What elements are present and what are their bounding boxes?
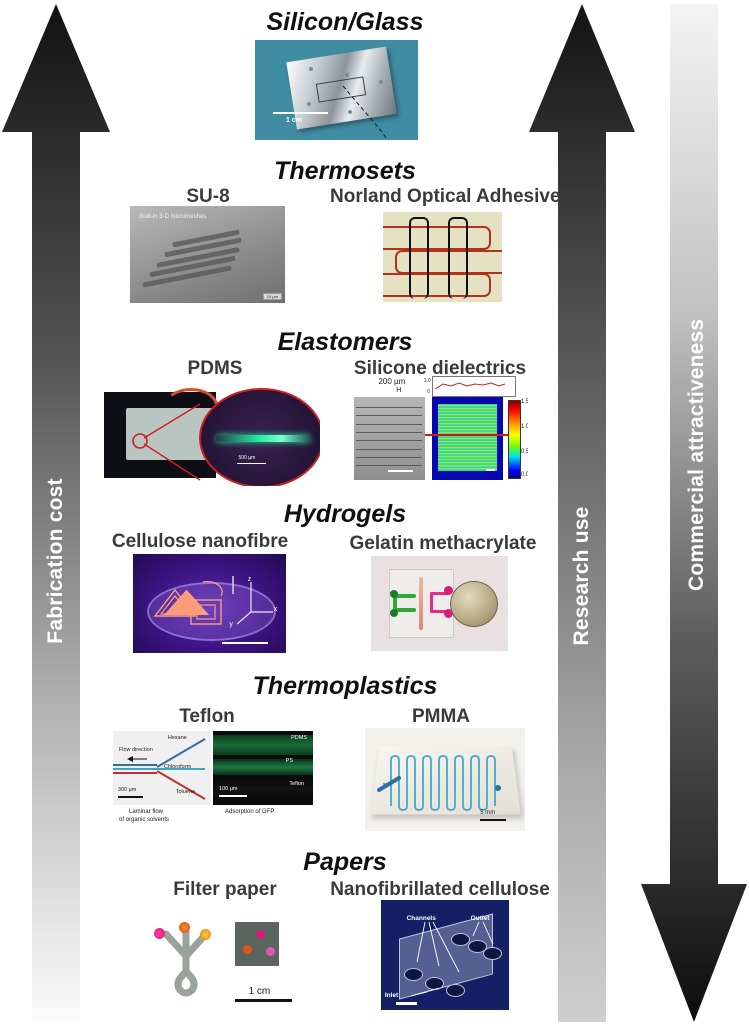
pdms-scale-label: 500 µm [239,455,256,461]
nanofibrillated-cellulose-image: Channels Outlet Inlet [381,900,509,1010]
pdms-image: 500 µm [104,386,320,486]
gelatin-methacrylate-image [371,556,508,651]
silicone-cb-15: 1.5 [521,399,528,405]
heading-hydrogels: Hydrogels [115,500,575,529]
pmma-image: 5 mm [365,728,525,831]
teflon-pdms-label: PDMS [291,735,307,741]
teflon-caption-2: of organic solvents [119,817,169,823]
teflon-caption-3: Adsorption of GFP [225,809,274,815]
teflon-caption-1: Laminar flow [129,809,163,815]
sublabel-cnf: Cellulose nanofibre [100,531,300,553]
silicone-dielectrics-image: 200 µm H 1.0 0 1.5 1.0 [350,376,528,486]
cnf-z-axis: z [248,576,252,583]
scale-bar [273,112,328,114]
heading-thermosets: Thermosets [115,157,575,186]
silicone-trace-hi: 1.0 [424,378,431,384]
teflon-chloroform-label: Chloroform [164,764,191,770]
teflon-flow-label: Flow direction [119,747,153,753]
nfc-outlet-label: Outlet [471,915,490,922]
nfc-channels-label: Channels [407,915,436,922]
teflon-ps-label: PS [286,758,293,764]
sublabel-teflon: Teflon [152,706,262,728]
teflon-image: Hexane Flow direction Chloroform Toluene… [113,731,313,826]
su8-image: Built-in 3-D micromeshes 10 µm [130,206,285,303]
teflon-teflon-label: Teflon [289,781,304,787]
silicone-trace-lo: 0 [427,389,430,395]
cnf-x-axis: x [274,606,278,613]
teflon-hexane-label: Hexane [168,735,187,741]
sublabel-pmma: PMMA [386,706,496,728]
sublabel-su8: SU-8 [138,186,278,208]
sublabel-gelma: Gelatin methacrylate [338,533,548,555]
commercial-attractiveness-label: Commercial attractiveness [685,321,709,591]
heading-thermoplastics: Thermoplastics [115,672,575,701]
su8-caption: Built-in 3-D micromeshes [139,214,206,220]
filter-paper-image: 1 cm [140,900,315,1010]
pmma-scale-label: 5 mm [480,810,495,816]
silicone-cb-00: 0.0 [521,472,528,478]
sublabel-nfc: Nanofibrillated cellulose [325,879,555,901]
sublabel-pdms: PDMS [145,358,285,380]
silicon-glass-image: 1 cm [255,40,418,140]
silicone-h-label: H [396,387,401,394]
materials-hierarchy-figure: Fabrication cost Research use [0,0,749,1026]
sublabel-noa: Norland Optical Adhesive [330,186,555,208]
silicon-scale-label: 1 cm [286,117,302,124]
teflon-toluene-label: Toluene [176,789,195,795]
heading-silicon-glass: Silicon/Glass [115,8,575,37]
nfc-inlet-label: Inlet [385,992,398,999]
silicone-cb-10: 1.0 [521,424,528,430]
teflon-scale-label: 300 µm [118,787,136,793]
sublabel-filter-paper: Filter paper [150,879,300,901]
commercial-attractiveness-arrow: Commercial attractiveness [640,4,749,1022]
fabrication-cost-arrow: Fabrication cost [0,4,112,1022]
teflon-scale2-label: 100 µm [219,786,237,792]
su8-scale-tag: 10 µm [263,293,282,300]
cnf-y-axis: y [229,621,233,628]
cellulose-nanofibre-image: z x y [133,554,286,653]
silicone-cb-05: 0.5 [521,449,528,455]
fabrication-cost-label: Fabrication cost [44,466,68,656]
heading-papers: Papers [115,848,575,877]
silicone-scale-label: 200 µm [378,377,405,386]
heading-elastomers: Elastomers [115,328,575,357]
norland-optical-adhesive-image [383,212,502,302]
filter-paper-scale-label: 1 cm [249,986,271,997]
